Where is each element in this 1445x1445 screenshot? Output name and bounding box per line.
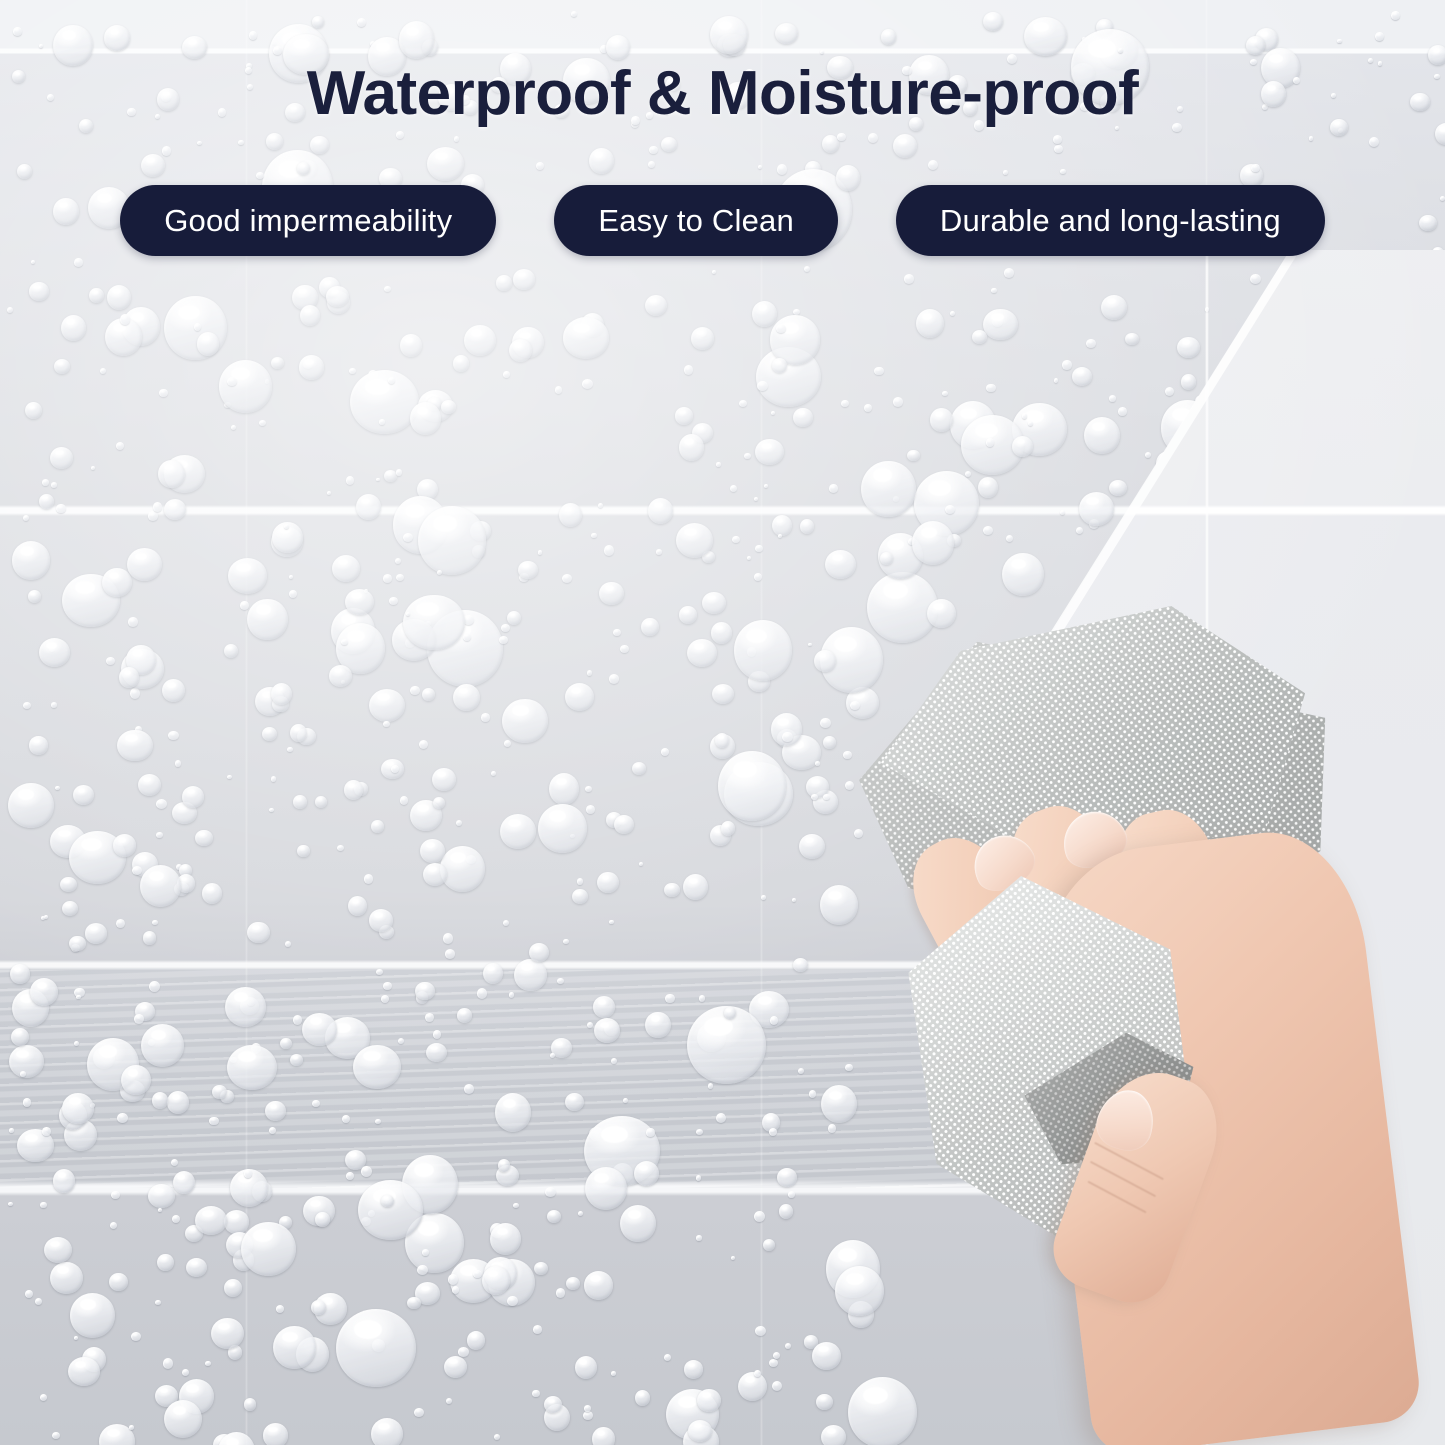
feature-badge-durable[interactable]: Durable and long-lasting xyxy=(896,185,1325,256)
page-title: Waterproof & Moisture-proof xyxy=(0,58,1445,129)
feature-badge-row: Good impermeability Easy to Clean Durabl… xyxy=(0,185,1445,256)
product-feature-poster: Waterproof & Moisture-proof Good imperme… xyxy=(0,0,1445,1445)
feature-badge-easy-to-clean[interactable]: Easy to Clean xyxy=(554,185,838,256)
feature-badge-impermeability[interactable]: Good impermeability xyxy=(120,185,496,256)
